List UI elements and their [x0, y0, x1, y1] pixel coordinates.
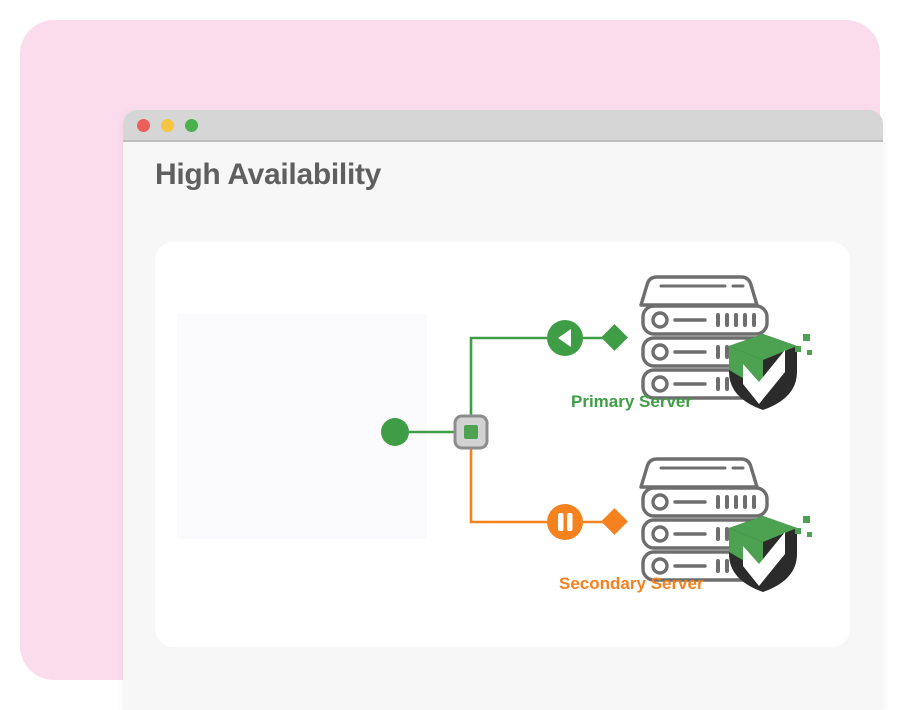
close-button[interactable]: [137, 119, 150, 132]
primary-state-play-icon[interactable]: [547, 320, 583, 356]
primary-diamond-icon: [601, 324, 628, 351]
maximize-button[interactable]: [185, 119, 198, 132]
client-node-marker[interactable]: [381, 418, 409, 446]
failover-diagram-svg: [155, 242, 850, 647]
window-titlebar[interactable]: [123, 110, 883, 142]
screenshot-stage: High Availability: [0, 0, 900, 700]
load-balancer-switch-node[interactable]: [455, 416, 487, 448]
browser-window: High Availability: [123, 110, 883, 710]
minimize-button[interactable]: [161, 119, 174, 132]
content-card: Primary Server Secondary Server: [155, 242, 850, 647]
secondary-server-label: Secondary Server: [559, 574, 704, 594]
secondary-diamond-icon: [601, 508, 628, 535]
primary-server-label: Primary Server: [571, 392, 692, 412]
secondary-state-pause-icon[interactable]: [547, 504, 583, 540]
page-title: High Availability: [155, 158, 381, 192]
